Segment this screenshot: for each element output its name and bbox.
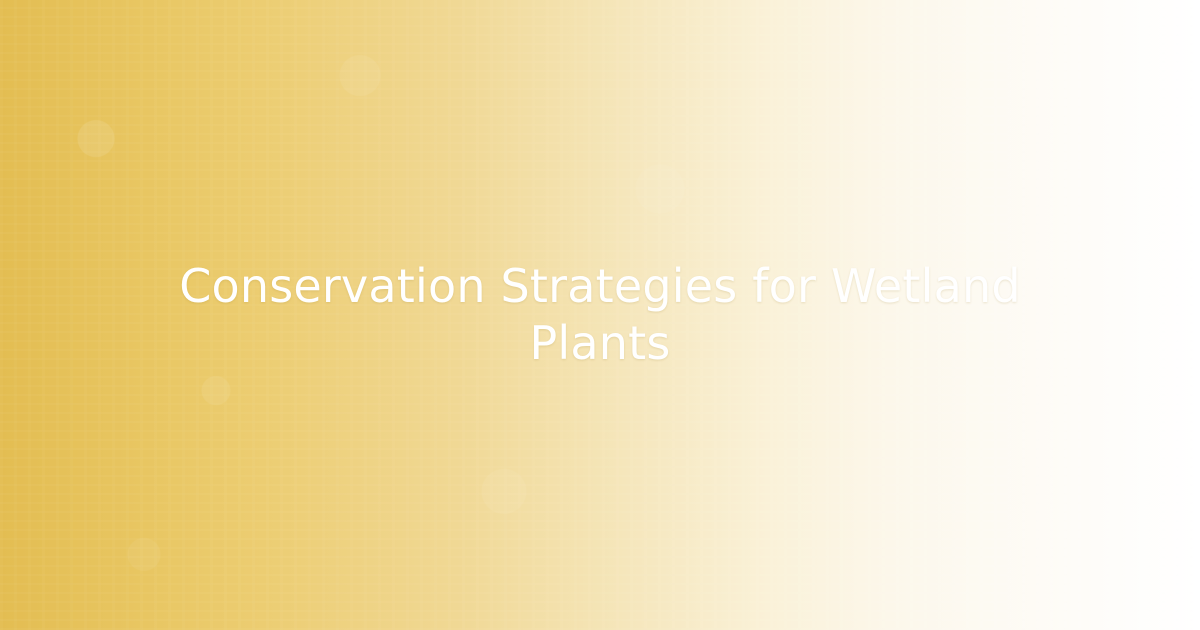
title-banner: Conservation Strategies for Wetland Plan…	[0, 0, 1200, 630]
page-title: Conservation Strategies for Wetland Plan…	[170, 258, 1030, 373]
title-container: Conservation Strategies for Wetland Plan…	[0, 0, 1200, 630]
